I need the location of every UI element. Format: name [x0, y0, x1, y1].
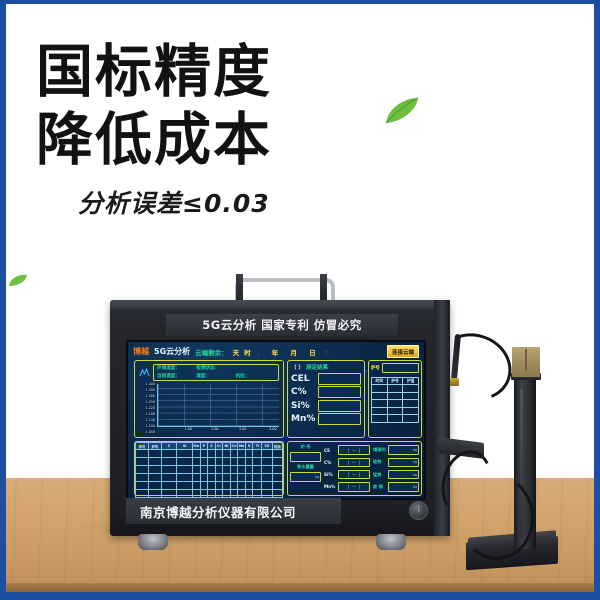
device-foot-left [138, 534, 168, 550]
cell [245, 458, 253, 466]
data-col: 序号 [136, 443, 149, 450]
table-row[interactable] [136, 450, 283, 458]
date-colon: : [326, 348, 328, 356]
input-weight-label: 铁水重量 [290, 464, 321, 470]
data-col: 炉号 [148, 443, 161, 450]
table-row[interactable] [136, 482, 283, 490]
history-table: 时间 炉号 护值 [371, 377, 419, 423]
result-label-c: C% [291, 387, 315, 397]
cell [372, 392, 388, 400]
result-panel: （ ） 测定结果 CEL C% Si% [287, 360, 365, 438]
cell [148, 466, 161, 474]
cell [238, 482, 246, 490]
result-row: Mn% [288, 413, 364, 425]
cell [200, 450, 208, 458]
cell [253, 490, 262, 498]
company-name-text: 南京博越分析仪器有限公司 [140, 502, 296, 521]
cell [272, 482, 282, 490]
result-label-mn: Mn% [291, 414, 315, 424]
cell [200, 490, 208, 498]
target-row: C% |—| [324, 458, 370, 468]
cloud-remaining-days-unit: 天 [233, 347, 240, 357]
table-row[interactable] [136, 490, 283, 498]
addition-unit: kg [413, 448, 417, 452]
table-row[interactable] [372, 400, 419, 408]
cell [372, 415, 388, 423]
target-name-c: C% [324, 460, 336, 465]
cell [148, 458, 161, 466]
cell [148, 490, 161, 498]
result-label-si: Si% [291, 401, 315, 411]
input-furnace-field[interactable] [290, 452, 321, 462]
cloud-remaining-hours-unit: 时 [244, 347, 251, 357]
addition-value-ferrosilicon[interactable]: kg [388, 458, 419, 468]
target-name-si: Si% [324, 472, 336, 477]
cell [177, 482, 193, 490]
target-name-mn: Mn% [324, 484, 336, 489]
y-axis-tick: 1.350 [145, 388, 156, 392]
company-name-plate: 南京博越分析仪器有限公司 [126, 498, 341, 524]
y-axis-tick: 1.180 [145, 412, 156, 416]
result-title: 测定结果 [306, 363, 328, 371]
poster-card: 国标精度 降低成本 分析误差≤0.03 [6, 4, 594, 592]
data-table-panel: 序号 炉号 C Si Mn P S Cr Ni Cu [134, 441, 284, 496]
cell [223, 466, 231, 474]
cell [230, 482, 238, 490]
cloud-remaining-label: 云端剩余： [195, 347, 228, 357]
table-row[interactable] [136, 466, 283, 474]
cell [161, 458, 177, 466]
y-axis-tick: 1.220 [145, 406, 156, 410]
data-col: S [208, 443, 216, 450]
cell [192, 482, 200, 490]
device-banner: 5G云分析 国家专利 仿冒必究 [166, 314, 398, 336]
cell [177, 490, 193, 498]
table-row[interactable] [372, 385, 419, 393]
input-left-column: 炉 号 铁水重量 kg [290, 444, 321, 493]
cell [238, 490, 246, 498]
chart-status-box: 环境温度： 检测状态： 当前温度： 湿度： 抗拉： [153, 364, 279, 381]
cell [208, 490, 216, 498]
addition-name-carburizer: 增碳剂 [373, 447, 386, 453]
addition-name-ferrosilicon: 硅铁 [373, 459, 386, 465]
data-col: C [161, 443, 177, 450]
cell [272, 450, 282, 458]
addition-value-ferromanganese[interactable]: kg [388, 470, 419, 480]
result-paren-close: ） [299, 363, 305, 371]
status-item: 当前温度： [157, 373, 196, 381]
status-item: 环境温度： [157, 365, 196, 373]
input-panel: 炉 号 铁水重量 kg CE |—| [287, 441, 422, 496]
cell [272, 490, 282, 498]
leaf-icon [384, 96, 420, 126]
cell [230, 466, 238, 474]
cell [387, 407, 403, 415]
result-row: Si% [288, 400, 364, 412]
addition-row: 硅铁 kg [373, 458, 419, 468]
addition-name-ferromanganese: 锰铁 [373, 472, 386, 478]
cell [161, 450, 177, 458]
cell [223, 458, 231, 466]
result-row: C% [288, 386, 364, 398]
cell [161, 482, 177, 490]
cell [238, 450, 246, 458]
input-weight-field[interactable]: kg [290, 472, 321, 482]
cell [272, 458, 282, 466]
cell [177, 450, 193, 458]
x-axis-tick: 4.00 [269, 427, 276, 431]
y-axis-tick: 1.050 [145, 430, 156, 434]
cell [253, 450, 262, 458]
x-axis-tick: 2.00 [211, 427, 218, 431]
cell [148, 450, 161, 458]
result-label-cel: CEL [291, 374, 315, 384]
history-panel: 炉号 时间 炉号 护值 [368, 360, 422, 438]
cell [200, 466, 208, 474]
cell [200, 458, 208, 466]
cell [177, 466, 193, 474]
y-axis-tick: 1.100 [145, 424, 156, 428]
table-front-edge [6, 583, 594, 592]
target-range-si[interactable]: |—| [338, 470, 370, 480]
poster-root: 国标精度 降低成本 分析误差≤0.03 [0, 0, 600, 600]
sub-headline: 分析误差≤0.03 [78, 184, 366, 220]
cell [245, 490, 253, 498]
status-item [236, 365, 275, 373]
analyzer-device: 5G云分析 国家专利 仿冒必究 [110, 300, 450, 536]
cell [245, 450, 253, 458]
cell [148, 482, 161, 490]
cell [253, 458, 262, 466]
cell [200, 474, 208, 482]
cell [238, 466, 246, 474]
cell [177, 458, 193, 466]
result-value-cel[interactable] [318, 373, 361, 385]
data-col: CE [262, 443, 272, 450]
leaf-icon-small [8, 274, 28, 288]
addition-row: 废 钢 kg [373, 482, 419, 492]
table-row[interactable] [136, 474, 283, 482]
cell [272, 466, 282, 474]
table-row[interactable] [372, 392, 419, 400]
cell [223, 482, 231, 490]
device-screen[interactable]: 博越 5G云分析 云端剩余： 天 时 年 月 日 : 连接云端 [128, 342, 424, 498]
cell [387, 385, 403, 393]
result-row: CEL [288, 373, 364, 385]
cell [136, 490, 149, 498]
result-value-c[interactable] [318, 386, 361, 398]
probe-slot [525, 349, 527, 371]
cell [403, 407, 419, 415]
cell [136, 466, 149, 474]
table-row[interactable] [136, 458, 283, 466]
power-button-icon[interactable] [409, 501, 428, 520]
input-addition-column: 增碳剂 kg 硅铁 kg 锰铁 kg [373, 444, 419, 493]
brand-label: 博越 [133, 346, 149, 357]
cell [272, 474, 282, 482]
target-name-ce: CE [324, 448, 336, 453]
addition-value-scrap[interactable]: kg [388, 482, 419, 492]
data-col: Ti [253, 443, 262, 450]
cell [192, 466, 200, 474]
handle-stub-right [320, 274, 327, 302]
data-col: P [200, 443, 208, 450]
history-col-furnace: 炉号 [387, 378, 403, 385]
status-item: 检测状态： [196, 365, 235, 373]
cell [262, 490, 272, 498]
data-col: Si [177, 443, 193, 450]
data-header-row: 序号 炉号 C Si Mn P S Cr Ni Cu [136, 443, 283, 450]
cell [177, 474, 193, 482]
history-header-row: 时间 炉号 护值 [372, 378, 419, 385]
y-axis-tick: 1.400 [145, 382, 156, 386]
chart-logo-icon [138, 366, 150, 378]
cell [372, 407, 388, 415]
result-value-mn[interactable] [318, 413, 361, 425]
headline-line-1: 国标精度 [36, 42, 366, 102]
cell [262, 482, 272, 490]
cell [403, 392, 419, 400]
cell [262, 466, 272, 474]
cell [136, 458, 149, 466]
cell [223, 490, 231, 498]
cell [215, 490, 223, 498]
measurement-table: 序号 炉号 C Si Mn P S Cr Ni Cu [135, 442, 283, 498]
cell [253, 466, 262, 474]
target-range-mn[interactable]: |—| [338, 482, 370, 492]
cell [387, 392, 403, 400]
history-furnace-row: 炉号 [369, 361, 421, 375]
input-furnace-label: 炉 号 [290, 444, 321, 450]
cell [215, 466, 223, 474]
data-col: Cr [215, 443, 223, 450]
cell [245, 474, 253, 482]
cell [262, 474, 272, 482]
weight-unit: kg [315, 475, 319, 479]
target-row: CE |—| [324, 445, 370, 455]
headline-line-2: 降低成本 [36, 110, 366, 170]
cell [161, 466, 177, 474]
cell [200, 482, 208, 490]
x-axis-tick: 1.00 [185, 427, 192, 431]
cell [192, 490, 200, 498]
result-header: （ ） 测定结果 [288, 361, 364, 371]
data-col: V [245, 443, 253, 450]
cell [215, 482, 223, 490]
connect-cloud-button[interactable]: 连接云端 [387, 345, 419, 358]
cell [372, 400, 388, 408]
screen-bezel: 博越 5G云分析 云端剩余： 天 时 年 月 日 : 连接云端 [126, 340, 426, 500]
cell [262, 458, 272, 466]
addition-row: 锰铁 kg [373, 470, 419, 480]
screen-header: 博越 5G云分析 云端剩余： 天 时 年 月 日 : 连接云端 [133, 345, 419, 358]
cell [230, 450, 238, 458]
cell [215, 450, 223, 458]
input-grid: 炉 号 铁水重量 kg CE |—| [288, 442, 421, 495]
x-axis-tick: 3.00 [239, 427, 246, 431]
data-col: Cu [230, 443, 238, 450]
brand-sub-label: 5G云分析 [154, 346, 190, 357]
cell [215, 458, 223, 466]
cell [403, 415, 419, 423]
cell [136, 450, 149, 458]
cell [161, 474, 177, 482]
cell [230, 474, 238, 482]
cell [230, 458, 238, 466]
cell [208, 466, 216, 474]
cell [136, 474, 149, 482]
cell [238, 458, 246, 466]
target-range-ce[interactable]: |—| [338, 445, 370, 455]
status-item: 湿度： [196, 373, 235, 381]
data-col: Ni [223, 443, 231, 450]
cell [372, 385, 388, 393]
cell [230, 490, 238, 498]
measurement-table-body [136, 450, 283, 498]
cell [403, 385, 419, 393]
cell [253, 482, 262, 490]
result-value-si[interactable] [318, 400, 361, 412]
addition-unit: kg [413, 485, 417, 489]
cell [245, 482, 253, 490]
history-furnace-label: 炉号 [371, 365, 380, 371]
cell [192, 450, 200, 458]
addition-row: 增碳剂 kg [373, 445, 419, 455]
y-axis-tick: 1.250 [145, 400, 156, 404]
cell [387, 400, 403, 408]
handle-stub-left [236, 274, 243, 302]
cell [161, 490, 177, 498]
addition-unit: kg [413, 473, 417, 477]
target-row: Mn% |—| [324, 482, 370, 492]
cell [136, 482, 149, 490]
data-col: Mn [192, 443, 200, 450]
table-row[interactable] [372, 415, 419, 423]
cell [238, 474, 246, 482]
input-target-column: CE |—| C% |—| Si% |—| [324, 444, 370, 493]
device-banner-text: 5G云分析 国家专利 仿冒必究 [202, 317, 361, 333]
cell [208, 474, 216, 482]
cell [403, 400, 419, 408]
cell [387, 415, 403, 423]
cell [208, 458, 216, 466]
cell [262, 450, 272, 458]
data-col: 时间 [272, 443, 282, 450]
date-label: 年 月 日 [272, 347, 321, 357]
cell [208, 450, 216, 458]
cell [223, 450, 231, 458]
cell [215, 474, 223, 482]
cell [208, 482, 216, 490]
status-item: 抗拉： [236, 373, 275, 381]
target-range-c[interactable]: |—| [338, 458, 370, 468]
cooling-curve-plot: 1.400 1.350 1.300 1.250 1.220 1.180 1.14… [157, 384, 279, 427]
cell [148, 474, 161, 482]
table-row[interactable] [372, 407, 419, 415]
device-foot-right [376, 534, 406, 550]
cell [192, 458, 200, 466]
cell [192, 474, 200, 482]
cell [245, 466, 253, 474]
history-col-time: 时间 [372, 378, 388, 385]
chart-panel: 环境温度： 检测状态： 当前温度： 湿度： 抗拉： 1.400 1.350 1.… [134, 360, 284, 438]
cell [223, 474, 231, 482]
history-furnace-input[interactable] [382, 363, 419, 373]
y-axis-tick: 1.300 [145, 394, 156, 398]
data-col: Mo [238, 443, 246, 450]
addition-value-carburizer[interactable]: kg [388, 445, 419, 455]
antenna-base [450, 378, 459, 386]
history-col-value: 护值 [403, 378, 419, 385]
headline-block: 国标精度 降低成本 分析误差≤0.03 [36, 42, 366, 220]
addition-name-scrap: 废 钢 [373, 484, 386, 490]
y-axis-tick: 1.140 [145, 418, 156, 422]
device-top-edge [110, 300, 450, 309]
result-paren-open: （ [291, 363, 297, 371]
target-row: Si% |—| [324, 470, 370, 480]
addition-unit: kg [413, 460, 417, 464]
cell [253, 474, 262, 482]
